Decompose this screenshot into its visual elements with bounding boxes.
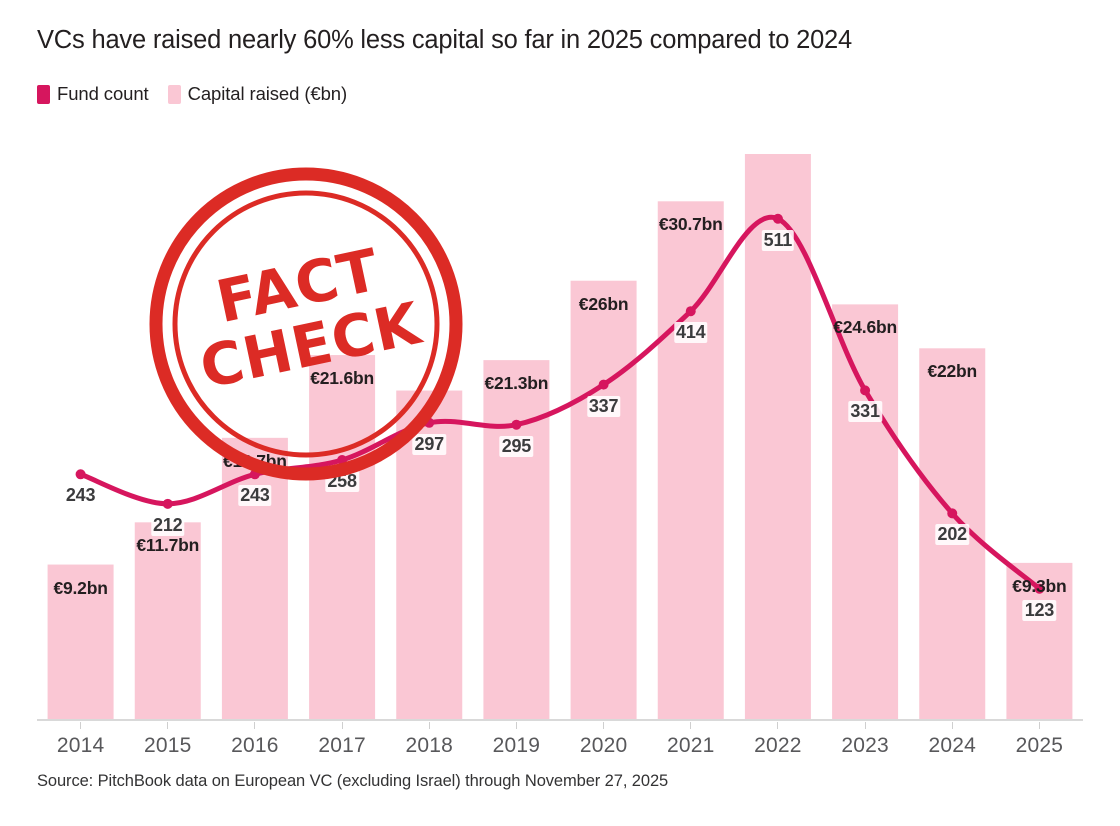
line-marker [337,455,347,465]
line-value-label: 337 [587,396,620,417]
bar-value-label: €21.6bn [310,368,374,389]
bar-value-label: €24.6bn [833,317,897,338]
x-axis-tick-label: 2019 [473,734,559,758]
x-axis-tick-mark [1039,722,1040,729]
bar-value-label: €22bn [927,361,977,382]
x-axis-tick: 2022 [735,722,821,758]
line-value-label: 258 [325,471,358,492]
x-axis-tick: 2023 [822,722,908,758]
line-marker [424,418,434,428]
bar-value-label: €9.2bn [53,578,107,599]
x-axis-tick-label: 2017 [299,734,385,758]
plot-area: €9.2bn€11.7bn€16.7bn€21.6bn€21.3bn€26bn€… [37,140,1083,720]
x-axis-tick-mark [342,722,343,729]
x-axis-tick: 2014 [38,722,124,758]
line-marker [163,499,173,509]
line-value-label: 331 [848,401,881,422]
bar-value-label: €26bn [579,294,629,315]
line-value-label: 295 [500,436,533,457]
legend-swatch-capital-raised [168,85,181,104]
line-value-label: 123 [1023,600,1056,621]
x-axis-tick-mark [254,722,255,729]
x-axis-tick: 2015 [125,722,211,758]
line-marker [773,214,783,224]
bar-value-label: €9.3bn [1012,576,1066,597]
x-axis-tick: 2025 [996,722,1082,758]
x-axis-tick-mark [516,722,517,729]
chart-page: VCs have raised nearly 60% less capital … [0,0,1120,826]
legend-swatch-fund-count [37,85,50,104]
bar-series [48,154,1073,720]
x-axis-tick-mark [603,722,604,729]
line-value-label: 202 [936,524,969,545]
line-marker [860,385,870,395]
line-value-label: 243 [238,485,271,506]
line-marker [76,469,86,479]
x-axis-tick-label: 2024 [909,734,995,758]
line-marker [599,380,609,390]
x-axis-tick: 2017 [299,722,385,758]
bar [571,281,637,720]
x-axis-tick: 2024 [909,722,995,758]
line-marker [947,508,957,518]
source-note: Source: PitchBook data on European VC (e… [37,772,668,791]
legend-label-fund-count: Fund count [57,83,149,105]
bar-value-label: €30.7bn [659,214,723,235]
chart-legend: Fund count Capital raised (€bn) [37,83,347,105]
x-axis-tick-label: 2020 [561,734,647,758]
line-value-label: 297 [413,434,446,455]
x-axis-tick-label: 2021 [648,734,734,758]
x-axis-tick-label: 2018 [386,734,472,758]
bar-value-label: €21.3bn [485,373,549,394]
x-axis-tick-mark [777,722,778,729]
x-axis-line [37,719,1083,721]
x-axis-tick-mark [429,722,430,729]
x-axis-tick: 2018 [386,722,472,758]
x-axis-tick-mark [865,722,866,729]
x-axis-tick-mark [690,722,691,729]
x-axis-tick: 2021 [648,722,734,758]
line-marker [686,306,696,316]
x-axis-tick-mark [167,722,168,729]
line-value-label: 414 [674,322,707,343]
legend-label-capital-raised: Capital raised (€bn) [188,83,347,105]
x-axis-tick: 2016 [212,722,298,758]
legend-item-fund-count: Fund count [37,83,149,105]
line-value-label: 243 [64,485,97,506]
line-markers [76,214,1045,594]
line-value-label: 511 [762,230,794,251]
x-axis-tick-label: 2015 [125,734,211,758]
x-axis: 2014201520162017201820192020202120222023… [37,722,1083,762]
x-axis-tick-label: 2016 [212,734,298,758]
chart-canvas [37,140,1083,720]
bar-value-label: €16.7bn [223,451,287,472]
x-axis-tick-label: 2014 [38,734,124,758]
line-value-label: 212 [151,515,184,536]
x-axis-tick: 2019 [473,722,559,758]
x-axis-tick-label: 2025 [996,734,1082,758]
bar [309,355,375,720]
line-marker [511,420,521,430]
x-axis-tick-mark [952,722,953,729]
bar [483,360,549,720]
x-axis-tick: 2020 [561,722,647,758]
bar-value-label: €11.7bn [136,535,199,556]
x-axis-tick-label: 2022 [735,734,821,758]
legend-item-capital-raised: Capital raised (€bn) [168,83,347,105]
bar [832,304,898,720]
page-title: VCs have raised nearly 60% less capital … [37,26,852,55]
x-axis-tick-mark [80,722,81,729]
x-axis-tick-label: 2023 [822,734,908,758]
